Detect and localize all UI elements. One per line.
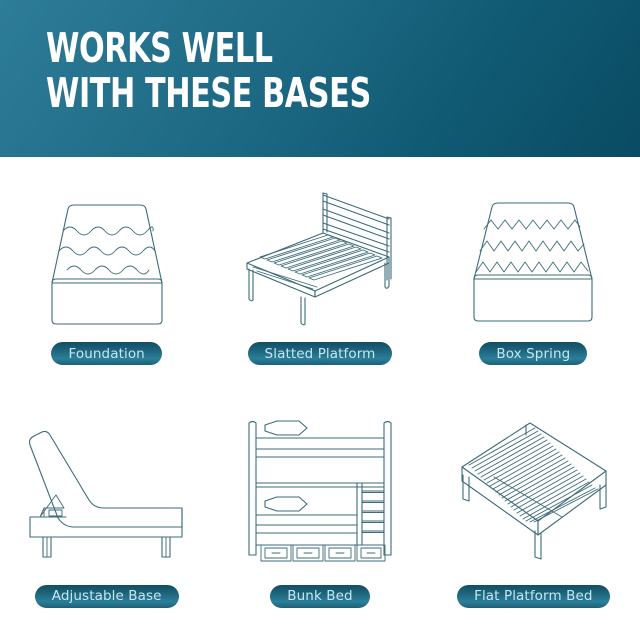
base-label-foundation: Foundation <box>51 342 161 365</box>
base-item-flat-platform-bed[interactable]: Flat Platform Bed <box>427 399 640 640</box>
base-item-box-spring[interactable]: Box Spring <box>427 157 640 399</box>
base-label-box-spring: Box Spring <box>479 342 587 365</box>
base-label-adjustable-base: Adjustable Base <box>35 585 179 608</box>
box-spring-icon <box>440 175 626 335</box>
adjustable-base-icon <box>14 409 200 569</box>
bunk-bed-icon <box>227 409 413 569</box>
base-label-flat-platform-bed: Flat Platform Bed <box>457 585 609 608</box>
slatted-platform-bed-icon <box>227 175 413 335</box>
base-label-slatted-platform: Slatted Platform <box>248 342 393 365</box>
foundation-mattress-icon <box>14 175 200 335</box>
bases-grid: Foundation <box>0 157 640 640</box>
page-title: WORKS WELL WITH THESE BASES <box>46 26 371 116</box>
flat-platform-bed-icon <box>440 409 626 569</box>
base-item-adjustable-base[interactable]: Adjustable Base <box>0 399 213 640</box>
base-label-bunk-bed: Bunk Bed <box>270 585 369 608</box>
base-item-foundation[interactable]: Foundation <box>0 157 213 399</box>
compatible-bases-infographic: WORKS WELL WITH THESE BASES Foundation <box>0 0 640 640</box>
base-item-bunk-bed[interactable]: Bunk Bed <box>213 399 426 640</box>
header-banner: WORKS WELL WITH THESE BASES <box>0 0 640 157</box>
base-item-slatted-platform[interactable]: Slatted Platform <box>213 157 426 399</box>
